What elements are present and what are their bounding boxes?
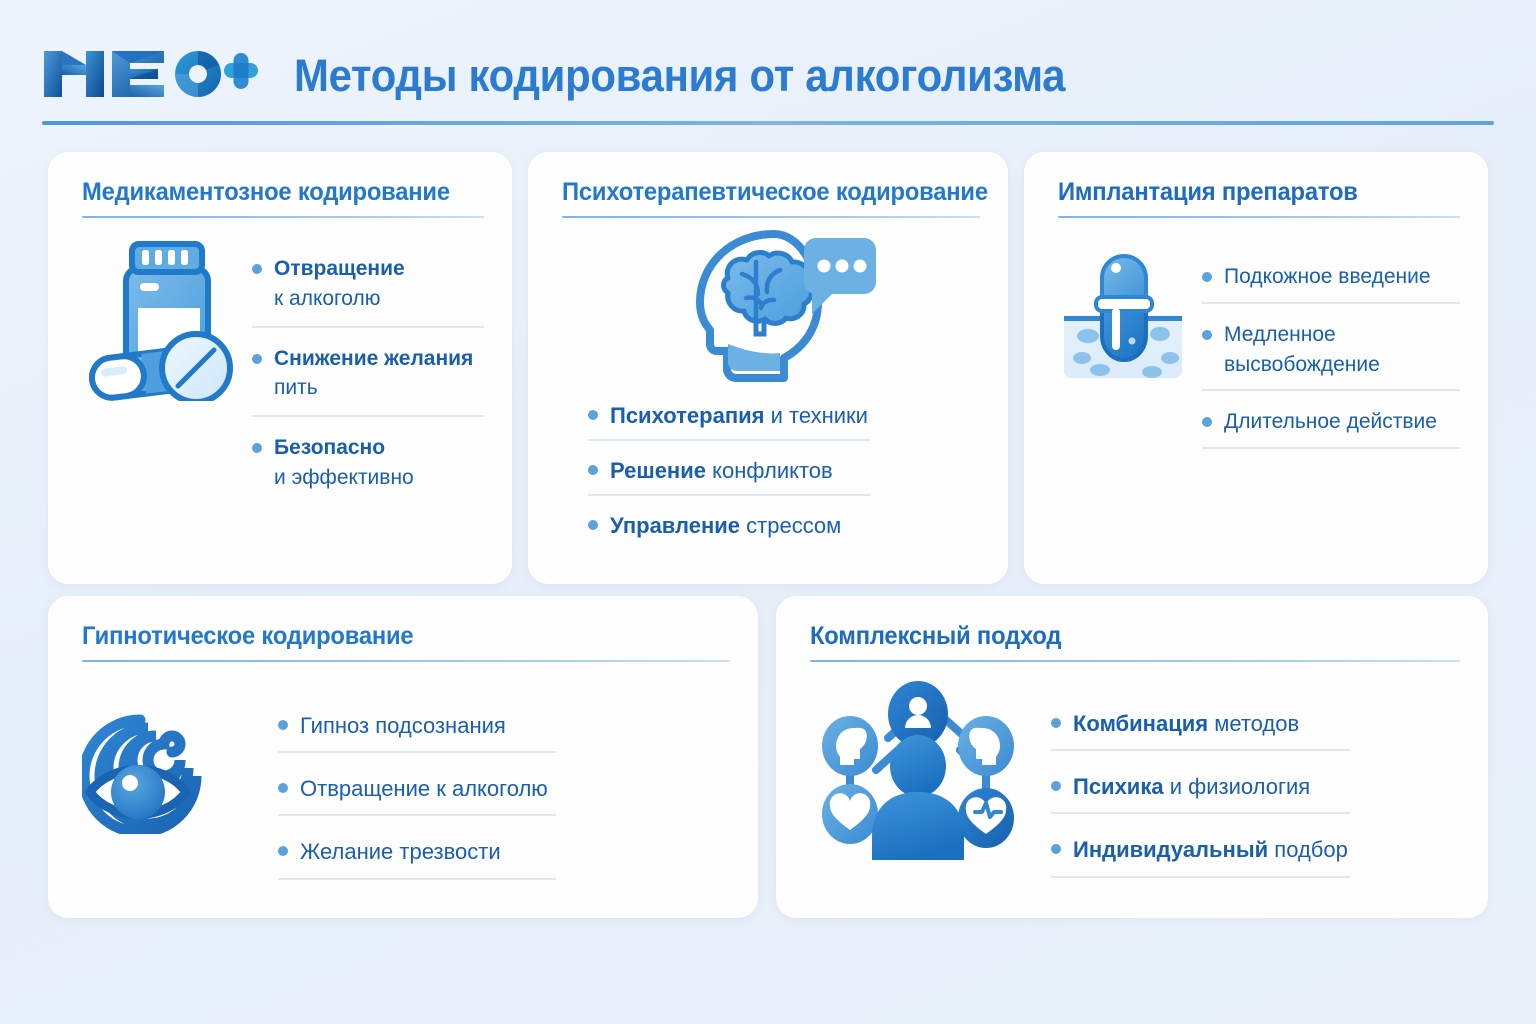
list-item-rest: методов <box>1214 711 1299 736</box>
card-title-divider <box>562 216 980 218</box>
list-item-rest: и физиология <box>1170 774 1310 799</box>
node-head-right <box>958 716 1014 776</box>
list-item-lead: Снижение желания <box>274 347 473 370</box>
list-item-rest: стрессом <box>746 513 841 538</box>
list-item: Гипноз подсознания <box>278 710 556 753</box>
list-item-rest: к алкоголю <box>274 287 380 310</box>
list-item-rest: введение <box>1338 265 1430 288</box>
list-item-rest: действие <box>1347 410 1437 433</box>
card-title-implantation: Имплантация препаратов <box>1058 178 1440 207</box>
card-title-divider <box>810 660 1460 662</box>
head-brain-speech-icon <box>562 226 980 386</box>
bullet-dot <box>278 783 288 793</box>
list-item: Снижение желания пить <box>252 344 484 418</box>
bullet-dot <box>278 720 288 730</box>
eye-spiral-icon <box>82 684 252 900</box>
cards-row-top: Медикаментозное кодирование <box>48 152 1488 584</box>
list-psychotherapy: Психотерапия и техники Решение конфликто… <box>562 400 980 564</box>
neo-plus-logo <box>42 45 260 107</box>
list-item-rest: трезвости <box>399 839 500 864</box>
list-item: Желание трезвости <box>278 836 556 879</box>
list-item-lead: Психика <box>1073 774 1164 799</box>
list-item-rest: и эффективно <box>274 466 414 489</box>
card-title-psychotherapy: Психотерапевтическое кодирование <box>562 178 959 207</box>
list-item: Индивидуальный подбор <box>1051 834 1350 877</box>
card-title-divider <box>82 660 730 662</box>
capsule-implant-icon <box>1058 238 1188 465</box>
list-item-rest: к алкоголю <box>436 776 548 801</box>
list-item: Длительное действие <box>1202 407 1460 449</box>
list-item-rest: подсознания <box>375 713 506 738</box>
list-item-lead: Отвращение <box>300 776 430 801</box>
card-title-medication: Медикаментозное кодирование <box>82 178 464 207</box>
list-implantation: Подкожное введение Медленное высвобожден… <box>1202 238 1460 465</box>
list-item: Отвращение к алкоголю <box>252 254 484 328</box>
node-heart <box>822 784 878 844</box>
list-item-lead: Гипноз <box>300 713 369 738</box>
bullet-dot <box>1051 718 1061 728</box>
list-item: Отвращение к алкоголю <box>278 773 556 816</box>
list-item-lead: Отвращение <box>274 257 405 280</box>
infographic-page: Методы кодирования от алкоголизма Медика… <box>0 0 1536 1024</box>
page-header: Методы кодирования от алкоголизма <box>42 28 1494 124</box>
bullet-dot <box>1202 272 1212 282</box>
central-person <box>872 735 964 860</box>
card-title-hypnosis: Гипнотическое кодирование <box>82 622 698 651</box>
node-head-left <box>822 716 878 776</box>
list-item-lead: Подкожное <box>1224 265 1332 288</box>
list-item-rest: конфликтов <box>712 458 833 483</box>
list-item-rest: подбор <box>1274 837 1348 862</box>
list-item-lead: Медленное <box>1224 323 1336 346</box>
bullet-dot <box>588 410 598 420</box>
bullet-dot <box>588 520 598 530</box>
list-item: Управление стрессом <box>588 510 870 549</box>
list-item: Решение конфликтов <box>588 455 870 496</box>
list-item: Подкожное введение <box>1202 262 1460 304</box>
list-item: Безопасно и эффективно <box>252 433 484 505</box>
network-person-icon <box>810 680 1025 898</box>
card-psychotherapy: Психотерапевтическое кодирование <box>528 152 1008 584</box>
list-item-lead: Управление <box>610 513 740 538</box>
bullet-dot <box>588 465 598 475</box>
card-implantation: Имплантация препаратов <box>1024 152 1488 584</box>
list-item: Психика и физиология <box>1051 771 1350 814</box>
card-complex-approach: Комплексный подход <box>776 596 1488 918</box>
bullet-dot <box>252 264 262 274</box>
list-item-rest: высвобождение <box>1224 353 1380 376</box>
list-complex-approach: Комбинация методов Психика и физиология <box>1051 680 1460 898</box>
bullet-dot <box>1202 417 1212 427</box>
bullet-dot <box>1051 781 1061 791</box>
header-divider <box>42 121 1494 125</box>
list-medication: Отвращение к алкоголю Снижение желания п… <box>252 236 484 521</box>
card-title-complex-approach: Комплексный подход <box>810 622 1428 651</box>
card-title-divider <box>82 216 484 218</box>
list-item-lead: Длительное <box>1224 410 1341 433</box>
card-title-divider <box>1058 216 1460 218</box>
list-item: Комбинация методов <box>1051 708 1350 751</box>
list-hypnosis: Гипноз подсознания Отвращение к алкоголю <box>278 684 730 900</box>
list-item-lead: Решение <box>610 458 706 483</box>
list-item: Медленное высвобождение <box>1202 320 1460 392</box>
list-item-lead: Психотерапия <box>610 403 764 428</box>
list-item-lead: Желание <box>300 839 393 864</box>
list-item-lead: Безопасно <box>274 436 385 459</box>
neo-plus-logo-icon <box>42 45 260 107</box>
list-item-rest: пить <box>274 376 318 399</box>
page-title: Методы кодирования от алкоголизма <box>294 50 1065 102</box>
list-item-lead: Индивидуальный <box>1073 837 1268 862</box>
bullet-dot <box>278 846 288 856</box>
pill-bottle-icon <box>82 236 242 521</box>
node-heart-pulse <box>958 788 1014 848</box>
card-hypnosis: Гипнотическое кодирование <box>48 596 758 918</box>
bullet-dot <box>252 443 262 453</box>
list-item: Психотерапия и техники <box>588 400 870 441</box>
list-item-lead: Комбинация <box>1073 711 1208 736</box>
list-item-rest: и техники <box>771 403 868 428</box>
bullet-dot <box>1051 844 1061 854</box>
bullet-dot <box>1202 330 1212 340</box>
cards-row-bottom: Гипнотическое кодирование <box>48 596 1488 918</box>
bullet-dot <box>252 354 262 364</box>
card-medication: Медикаментозное кодирование <box>48 152 512 584</box>
